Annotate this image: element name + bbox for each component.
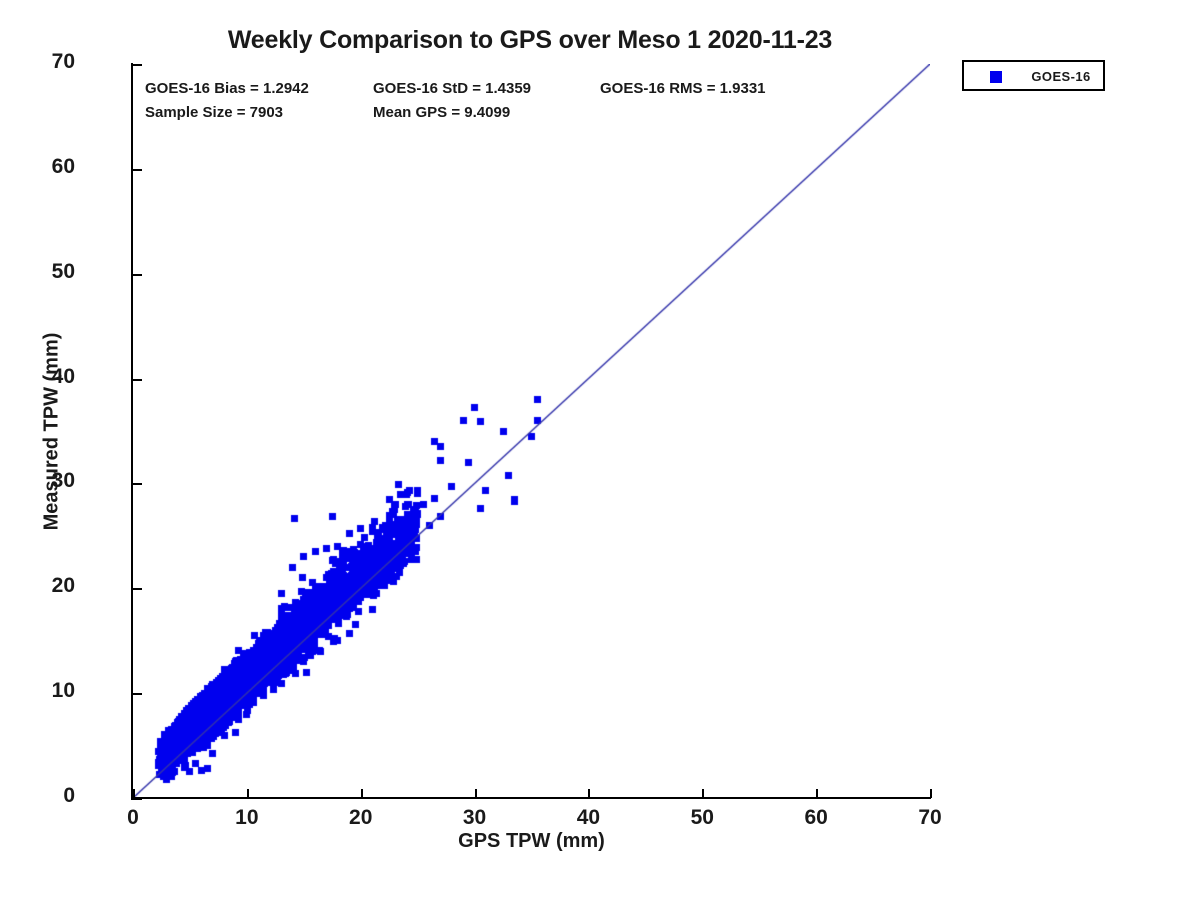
y-tick (133, 169, 142, 171)
y-tick (133, 588, 142, 590)
y-tick-label: 20 (15, 574, 75, 598)
x-tick (816, 789, 818, 798)
page-title: Weekly Comparison to GPS over Meso 1 202… (0, 26, 1060, 55)
x-tick-label: 10 (217, 806, 277, 830)
x-tick-label: 30 (445, 806, 505, 830)
legend-marker-icon (990, 71, 1002, 83)
y-axis-label: Measured TPW (mm) (41, 307, 64, 557)
y-tick (133, 798, 142, 800)
x-axis-spine (131, 797, 931, 799)
legend-label: GOES-16 (1022, 69, 1100, 84)
stat-bias: GOES-16 Bias = 1.2942 (145, 80, 309, 97)
y-tick-label: 60 (15, 155, 75, 179)
x-tick-label: 40 (558, 806, 618, 830)
stat-mean-gps: Mean GPS = 9.4099 (373, 104, 510, 121)
x-tick (930, 789, 932, 798)
y-axis-spine (131, 63, 133, 800)
x-tick-label: 0 (103, 806, 163, 830)
y-tick-label: 70 (15, 50, 75, 74)
y-tick (133, 64, 142, 66)
y-tick-label: 0 (15, 784, 75, 808)
y-tick (133, 483, 142, 485)
x-tick (702, 789, 704, 798)
y-tick (133, 379, 142, 381)
x-tick (361, 789, 363, 798)
x-tick-label: 50 (672, 806, 732, 830)
x-tick-label: 60 (786, 806, 846, 830)
y-tick-label: 50 (15, 260, 75, 284)
plot-area[interactable] (133, 64, 930, 798)
x-tick (247, 789, 249, 798)
y-tick (133, 693, 142, 695)
stat-std: GOES-16 StD = 1.4359 (373, 80, 531, 97)
x-tick (475, 789, 477, 798)
figure-canvas: Weekly Comparison to GPS over Meso 1 202… (0, 0, 1200, 900)
x-axis-label: GPS TPW (mm) (133, 830, 930, 853)
stat-sample-size: Sample Size = 7903 (145, 104, 283, 121)
legend[interactable]: GOES-16 (962, 60, 1105, 91)
x-tick (133, 789, 135, 798)
scatter-canvas (133, 64, 930, 798)
x-tick-label: 20 (331, 806, 391, 830)
x-tick-label: 70 (900, 806, 960, 830)
stat-rms: GOES-16 RMS = 1.9331 (600, 80, 766, 97)
y-tick (133, 274, 142, 276)
y-tick-label: 10 (15, 679, 75, 703)
x-tick (588, 789, 590, 798)
